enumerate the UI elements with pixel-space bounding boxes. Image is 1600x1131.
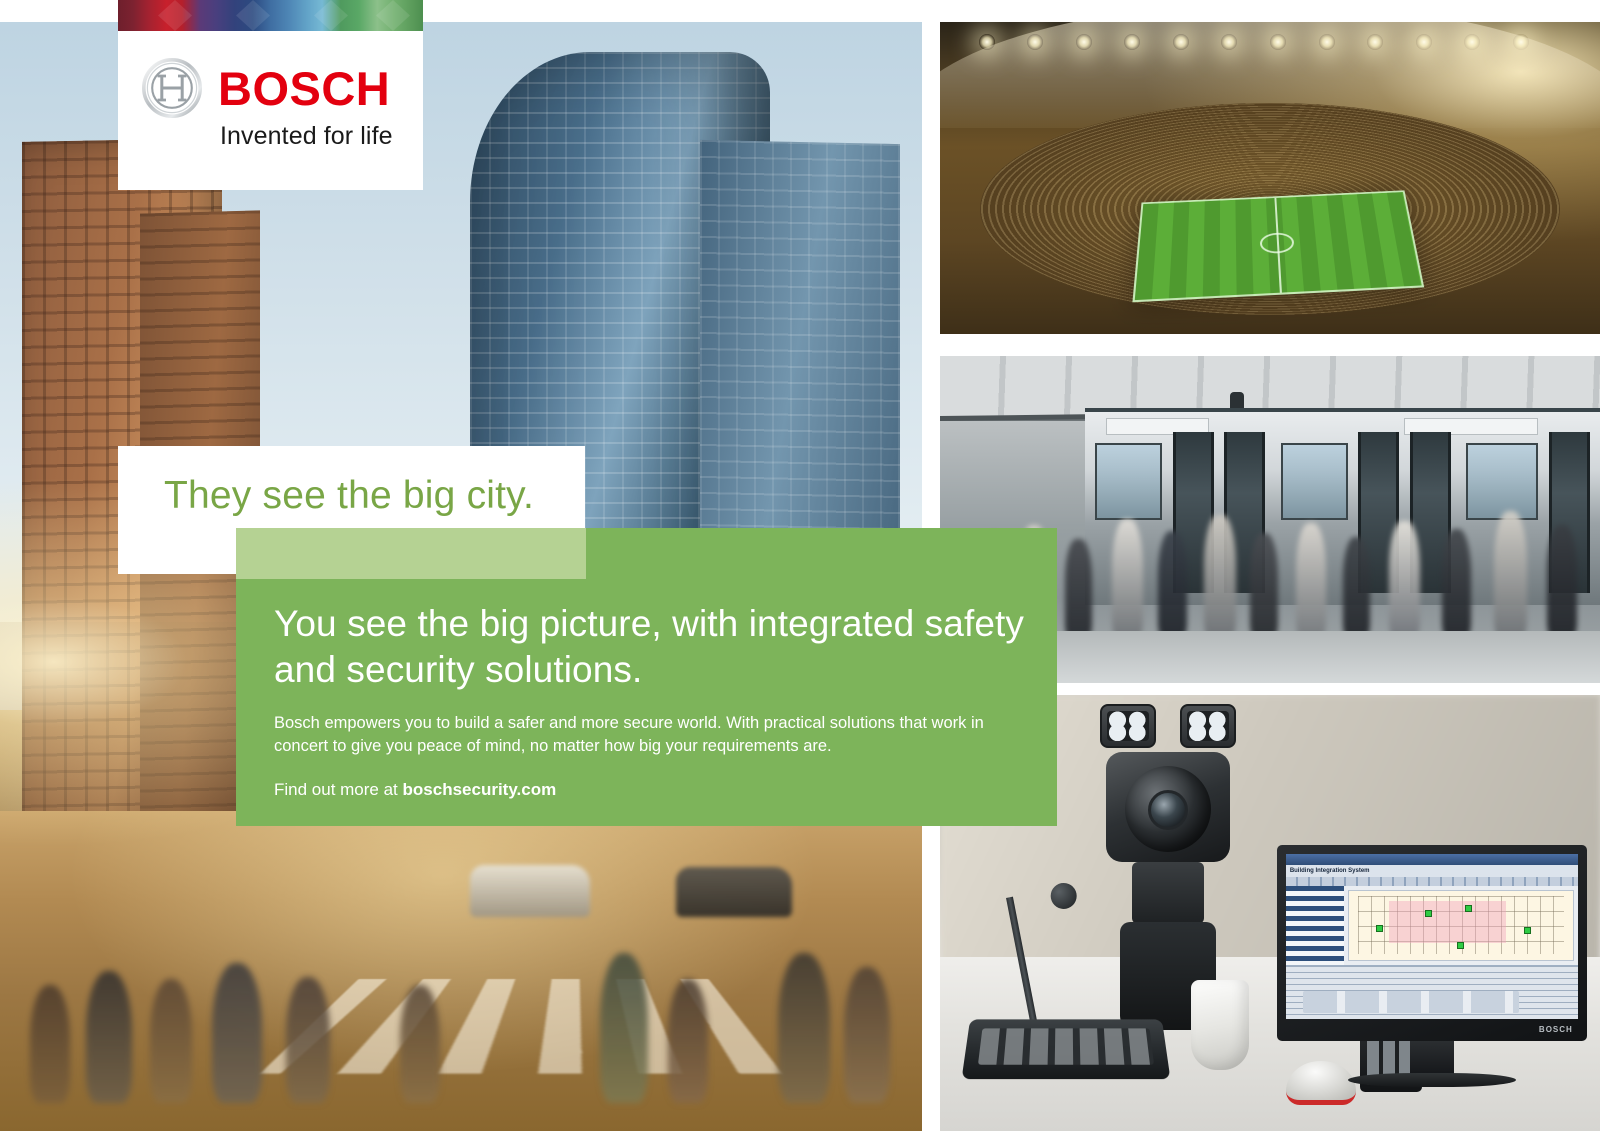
bosch-logo-lockup: BOSCH xyxy=(142,58,390,118)
pedestrian-blur xyxy=(778,953,830,1103)
pedestrian-blur xyxy=(86,971,132,1103)
pedestrian-blur xyxy=(212,963,262,1103)
status-dot xyxy=(1465,905,1472,912)
top-margin xyxy=(0,0,118,22)
monitor-foot xyxy=(1348,1073,1516,1087)
ir-illuminator-left xyxy=(1100,704,1156,748)
football-pitch xyxy=(1132,191,1424,303)
cta-line: Find out more at boschsecurity.com xyxy=(274,780,556,800)
pedestrian-blur xyxy=(668,979,708,1103)
body-copy-text: Bosch empowers you to build a safer and … xyxy=(274,712,1026,759)
pedestrian-blur xyxy=(844,967,890,1103)
cta-prefix: Find out more at xyxy=(274,780,403,799)
green-tint-overlay xyxy=(236,528,586,579)
bosch-anker-symbol-icon xyxy=(142,58,202,118)
stadium-floodlights xyxy=(966,34,1573,84)
monitor-bezel: Building Integration System xyxy=(1277,845,1587,1041)
status-dot xyxy=(1376,925,1383,932)
car-blur xyxy=(676,867,792,917)
monitor-screen: Building Integration System xyxy=(1286,854,1578,1019)
car-blur xyxy=(470,865,590,917)
top-margin-right xyxy=(423,0,940,22)
status-dot xyxy=(1524,927,1531,934)
pedestrian-blur xyxy=(150,979,192,1103)
commuter-blur xyxy=(1158,531,1187,637)
bosch-tagline: Invented for life xyxy=(220,122,393,151)
app-workspace xyxy=(1286,886,1578,965)
status-dot xyxy=(1457,942,1464,949)
motion-detector xyxy=(1191,980,1249,1070)
control-monitor: Building Integration System xyxy=(1277,845,1587,1105)
cta-url[interactable]: boschsecurity.com xyxy=(403,780,557,799)
stadium-image xyxy=(940,22,1600,334)
crosswalk-stripes xyxy=(260,979,810,1074)
app-toolbar[interactable] xyxy=(1286,877,1578,886)
status-panel xyxy=(1286,965,1578,1019)
window-titlebar xyxy=(1286,854,1578,865)
commuter-blur xyxy=(1547,525,1577,637)
commuter-blur xyxy=(1343,537,1370,637)
pedestrian-blur xyxy=(286,977,330,1103)
ir-illuminator-right xyxy=(1180,704,1236,748)
pedestrian-blur xyxy=(600,953,648,1103)
commuter-blur xyxy=(1204,515,1236,637)
sub-headline-text: You see the big picture, with integrated… xyxy=(274,601,1034,693)
bosch-supergraphic-stripe xyxy=(118,0,423,31)
commuter-blur xyxy=(1250,533,1278,637)
commuter-blur xyxy=(1112,519,1143,637)
monitor-stand xyxy=(1410,1041,1454,1075)
call-station-base xyxy=(962,1019,1171,1079)
pedestrian-blur xyxy=(400,985,440,1103)
commuter-blur xyxy=(1494,511,1527,637)
status-dot xyxy=(1425,910,1432,917)
commuter-blur xyxy=(1442,529,1471,637)
app-title: Building Integration System xyxy=(1286,865,1578,877)
floor-plan-view[interactable] xyxy=(1348,890,1574,961)
headline-text: They see the big city. xyxy=(164,474,534,518)
call-station-microphone xyxy=(966,889,1166,1079)
advertisement-page: BOSCH Invented for life They see the big… xyxy=(0,0,1600,1131)
commuter-blur xyxy=(1065,539,1092,637)
monitor-brand-label: BOSCH xyxy=(1277,1019,1587,1041)
action-button-row[interactable] xyxy=(1303,991,1519,1013)
camera-lens-icon xyxy=(1148,790,1188,830)
mic-gooseneck xyxy=(1006,896,1037,1021)
commuter-blur xyxy=(1389,521,1420,637)
call-station-keypad[interactable] xyxy=(978,1028,1154,1064)
bosch-wordmark: BOSCH xyxy=(218,65,390,112)
navigation-tree[interactable] xyxy=(1286,886,1344,965)
pedestrian-blur xyxy=(30,985,70,1103)
commuter-blur xyxy=(1296,523,1326,637)
